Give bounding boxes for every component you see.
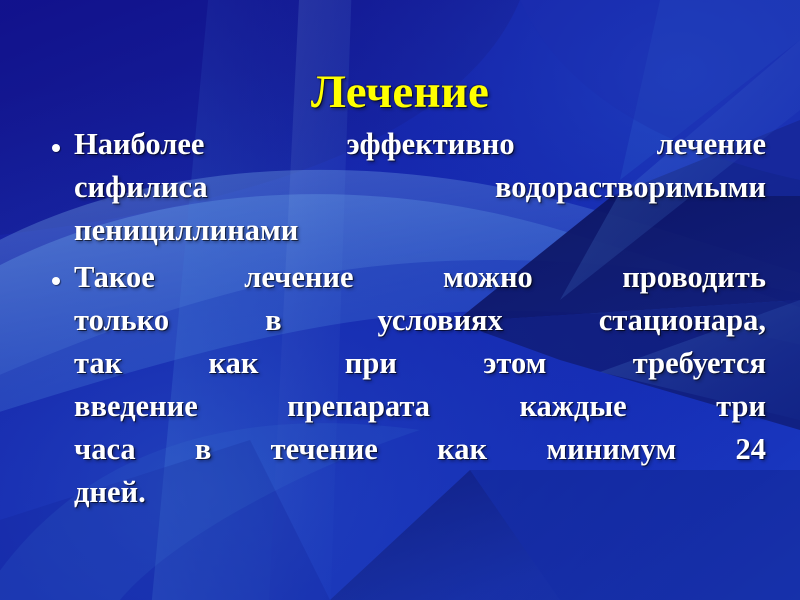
body-placeholder: Наиболее эффективно лечение сифилиса вод… xyxy=(52,123,766,518)
bullet-text: Такое лечение можно проводить только в у… xyxy=(74,256,766,514)
bullet-marker xyxy=(52,123,74,157)
bullet-line: дней. xyxy=(74,471,766,514)
bullet-line: часа в течение как минимум 24 xyxy=(74,428,766,471)
slide-content: Лечение Наиболее эффективно лечение сифи… xyxy=(0,0,800,600)
bullet-text: Наиболее эффективно лечение сифилиса вод… xyxy=(74,123,766,252)
round-bullet-icon xyxy=(52,144,60,152)
bullet-marker xyxy=(52,256,74,290)
bullet-line: пенициллинами xyxy=(74,209,766,252)
bullet-line: Такое лечение можно проводить xyxy=(74,256,766,299)
bullet-line: введение препарата каждые три xyxy=(74,385,766,428)
round-bullet-icon xyxy=(52,277,60,285)
bullet-line: только в условиях стационара, xyxy=(74,299,766,342)
bullet-line: сифилиса водорастворимыми xyxy=(74,166,766,209)
bullet-line: так как при этом требуется xyxy=(74,342,766,385)
bullet-line: Наиболее эффективно лечение xyxy=(74,123,766,166)
bullet-item: Такое лечение можно проводить только в у… xyxy=(52,256,766,514)
slide-title: Лечение xyxy=(311,67,489,118)
bullet-item: Наиболее эффективно лечение сифилиса вод… xyxy=(52,123,766,252)
presentation-slide: Лечение Наиболее эффективно лечение сифи… xyxy=(0,0,800,600)
